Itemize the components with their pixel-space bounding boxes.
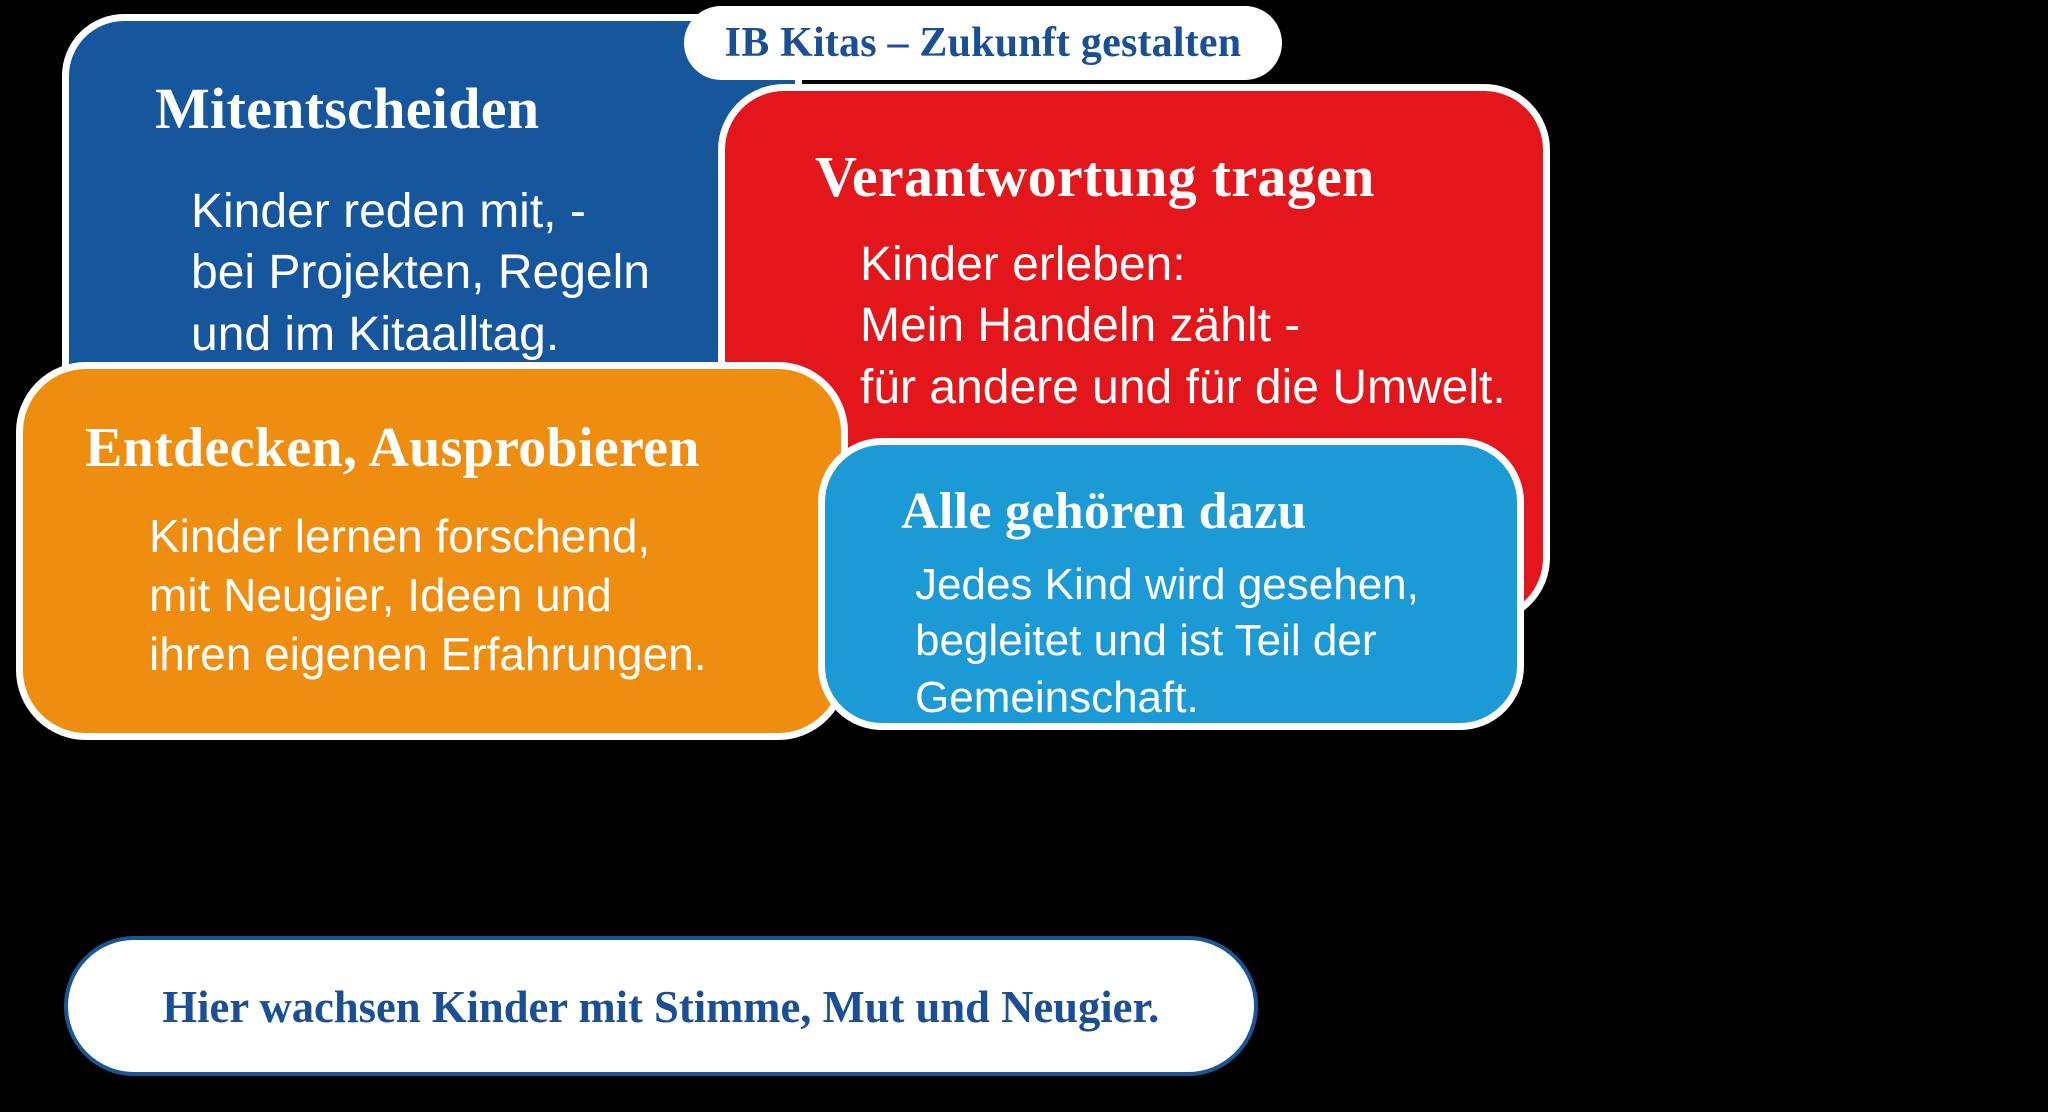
card-body-verantwortung-tragen: Kinder erleben: Mein Handeln zählt - für… bbox=[860, 234, 1506, 418]
infographic-canvas: Mitentscheiden Kinder reden mit, - bei P… bbox=[0, 0, 2048, 1112]
card-body-entdecken-ausprobieren: Kinder lernen forschend, mit Neugier, Id… bbox=[149, 507, 707, 684]
card-body-line: begleitet und ist Teil der bbox=[915, 613, 1419, 669]
card-body-line: mit Neugier, Ideen und bbox=[149, 566, 707, 625]
card-body-line: für andere und für die Umwelt. bbox=[860, 357, 1506, 418]
footer-tagline: Hier wachsen Kinder mit Stimme, Mut und … bbox=[163, 980, 1160, 1033]
card-body-line: ihren eigenen Erfahrungen. bbox=[149, 625, 707, 684]
footer-banner-pill: Hier wachsen Kinder mit Stimme, Mut und … bbox=[64, 936, 1258, 1076]
page-title: IB Kitas – Zukunft gestalten bbox=[725, 19, 1242, 67]
card-title-mitentscheiden: Mitentscheiden bbox=[155, 79, 539, 140]
card-body-line: Kinder erleben: bbox=[860, 234, 1506, 295]
card-entdecken-ausprobieren[interactable]: Entdecken, Ausprobieren Kinder lernen fo… bbox=[16, 362, 848, 740]
card-body-line: bei Projekten, Regeln bbox=[191, 242, 650, 303]
header-title-pill: IB Kitas – Zukunft gestalten bbox=[684, 6, 1282, 80]
card-body-line: Kinder lernen forschend, bbox=[149, 507, 707, 566]
card-body-alle-gehoeren-dazu: Jedes Kind wird gesehen, begleitet und i… bbox=[915, 557, 1419, 726]
card-title-entdecken-ausprobieren: Entdecken, Ausprobieren bbox=[85, 419, 700, 478]
card-title-verantwortung-tragen: Verantwortung tragen bbox=[815, 147, 1375, 208]
card-body-line: Mein Handeln zählt - bbox=[860, 295, 1506, 356]
card-body-line: und im Kitaalltag. bbox=[191, 304, 650, 365]
card-alle-gehoeren-dazu[interactable]: Alle gehören dazu Jedes Kind wird gesehe… bbox=[818, 438, 1524, 730]
card-body-line: Kinder reden mit, - bbox=[191, 181, 650, 242]
card-body-line: Gemeinschaft. bbox=[915, 670, 1419, 726]
card-body-mitentscheiden: Kinder reden mit, - bei Projekten, Regel… bbox=[191, 181, 650, 365]
card-body-line: Jedes Kind wird gesehen, bbox=[915, 557, 1419, 613]
card-title-alle-gehoeren-dazu: Alle gehören dazu bbox=[901, 485, 1307, 540]
